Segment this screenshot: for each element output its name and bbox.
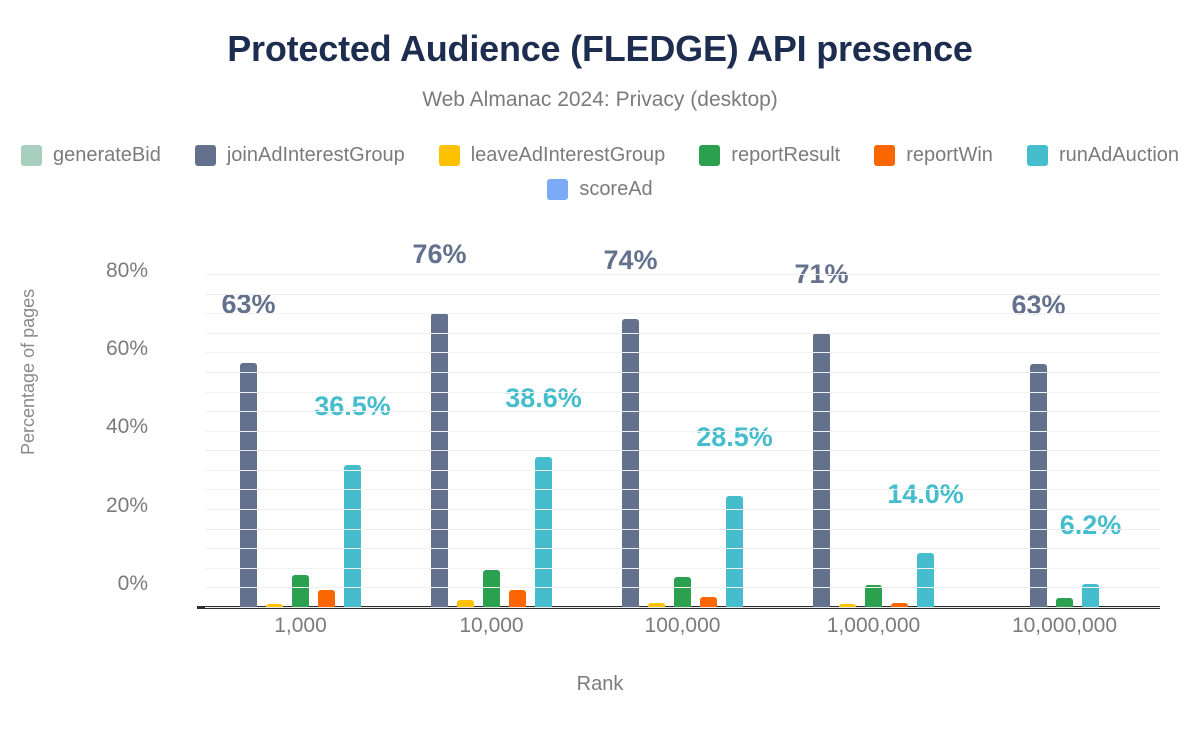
legend-item-scoreAd[interactable]: scoreAd xyxy=(547,172,652,206)
legend-swatch-leaveAdInterestGroup xyxy=(439,145,460,166)
legend-item-generateBid[interactable]: generateBid xyxy=(21,138,161,172)
bar-reportWin[interactable] xyxy=(509,590,526,608)
bar-value-label: 28.5% xyxy=(696,422,773,453)
chart-subtitle: Web Almanac 2024: Privacy (desktop) xyxy=(0,88,1200,112)
bar-groups: 63%36.5%76%38.6%74%28.5%71%14.0%63%6.2% xyxy=(205,275,1160,608)
x-axis-tick-label: 10,000 xyxy=(396,614,587,638)
legend-label: reportWin xyxy=(906,144,993,167)
y-axis-tick-label: 20% xyxy=(0,494,148,518)
bar-reportResult[interactable] xyxy=(292,575,309,608)
bar-value-label: 74% xyxy=(603,245,657,276)
bar-joinAdInterestGroup[interactable] xyxy=(622,319,639,608)
bar-reportResult[interactable] xyxy=(674,577,691,608)
legend-item-joinAdInterestGroup[interactable]: joinAdInterestGroup xyxy=(195,138,405,172)
bar-group: 63%36.5% xyxy=(205,275,396,608)
x-axis-tick-label: 1,000 xyxy=(205,614,396,638)
legend-item-reportWin[interactable]: reportWin xyxy=(874,138,993,172)
bar-group-bars xyxy=(396,275,587,608)
legend-label: leaveAdInterestGroup xyxy=(471,144,666,167)
legend-swatch-scoreAd xyxy=(547,179,568,200)
y-axis-tick-label: 0% xyxy=(0,572,148,596)
gridline xyxy=(205,352,1160,353)
gridline xyxy=(205,411,1160,412)
bar-runAdAuction[interactable] xyxy=(917,553,934,608)
gridline xyxy=(205,431,1160,432)
gridline xyxy=(205,372,1160,373)
bar-joinAdInterestGroup[interactable] xyxy=(240,363,257,608)
gridline xyxy=(205,529,1160,530)
bar-value-label: 76% xyxy=(412,239,466,270)
legend-swatch-joinAdInterestGroup xyxy=(195,145,216,166)
legend-label: scoreAd xyxy=(579,178,652,201)
legend-swatch-reportWin xyxy=(874,145,895,166)
x-axis-tick-label: 1,000,000 xyxy=(778,614,969,638)
legend-swatch-runAdAuction xyxy=(1027,145,1048,166)
bar-value-label: 63% xyxy=(1011,290,1065,321)
legend-item-leaveAdInterestGroup[interactable]: leaveAdInterestGroup xyxy=(439,138,666,172)
bar-reportResult[interactable] xyxy=(483,570,500,608)
chart-legend: generateBidjoinAdInterestGroupleaveAdInt… xyxy=(0,138,1200,206)
chart-container: Protected Audience (FLEDGE) API presence… xyxy=(0,0,1200,742)
legend-label: joinAdInterestGroup xyxy=(227,144,405,167)
gridline xyxy=(205,489,1160,490)
x-axis-tick-labels: 1,00010,000100,0001,000,00010,000,000 xyxy=(205,614,1160,638)
legend-swatch-reportResult xyxy=(699,145,720,166)
x-axis-tick-label: 10,000,000 xyxy=(969,614,1160,638)
gridline xyxy=(205,568,1160,569)
gridline xyxy=(205,450,1160,451)
legend-label: runAdAuction xyxy=(1059,144,1179,167)
legend-swatch-generateBid xyxy=(21,145,42,166)
gridline xyxy=(205,607,1160,608)
legend-label: generateBid xyxy=(53,144,161,167)
bar-runAdAuction[interactable] xyxy=(535,457,552,608)
bar-reportWin[interactable] xyxy=(318,590,335,608)
x-axis-title: Rank xyxy=(0,673,1200,696)
legend-item-reportResult[interactable]: reportResult xyxy=(699,138,840,172)
bar-joinAdInterestGroup[interactable] xyxy=(431,313,448,608)
x-axis-tick-label: 100,000 xyxy=(587,614,778,638)
gridline xyxy=(205,470,1160,471)
gridline xyxy=(205,274,1160,275)
gridline xyxy=(205,294,1160,295)
chart-title: Protected Audience (FLEDGE) API presence xyxy=(0,28,1200,69)
bar-runAdAuction[interactable] xyxy=(726,496,743,608)
bar-group: 76%38.6% xyxy=(396,275,587,608)
gridline xyxy=(205,548,1160,549)
legend-item-runAdAuction[interactable]: runAdAuction xyxy=(1027,138,1179,172)
bar-value-label: 14.0% xyxy=(887,479,964,510)
y-axis-tick-label: 80% xyxy=(0,259,148,283)
gridline xyxy=(205,587,1160,588)
bar-group: 71%14.0% xyxy=(778,275,969,608)
plot-area: 63%36.5%76%38.6%74%28.5%71%14.0%63%6.2% … xyxy=(205,275,1160,608)
gridline xyxy=(205,509,1160,510)
bar-value-label: 38.6% xyxy=(505,383,582,414)
bar-group: 74%28.5% xyxy=(587,275,778,608)
gridline xyxy=(205,392,1160,393)
bar-group-bars xyxy=(969,275,1160,608)
gridline xyxy=(205,333,1160,334)
gridline xyxy=(205,313,1160,314)
bar-group-bars xyxy=(205,275,396,608)
y-axis-tick-label: 40% xyxy=(0,415,148,439)
legend-label: reportResult xyxy=(731,144,840,167)
bar-group: 63%6.2% xyxy=(969,275,1160,608)
bar-value-label: 36.5% xyxy=(314,391,391,422)
bar-group-bars xyxy=(778,275,969,608)
y-axis-tick-label: 60% xyxy=(0,337,148,361)
bar-value-label: 6.2% xyxy=(1060,510,1122,541)
bar-joinAdInterestGroup[interactable] xyxy=(1030,364,1047,608)
